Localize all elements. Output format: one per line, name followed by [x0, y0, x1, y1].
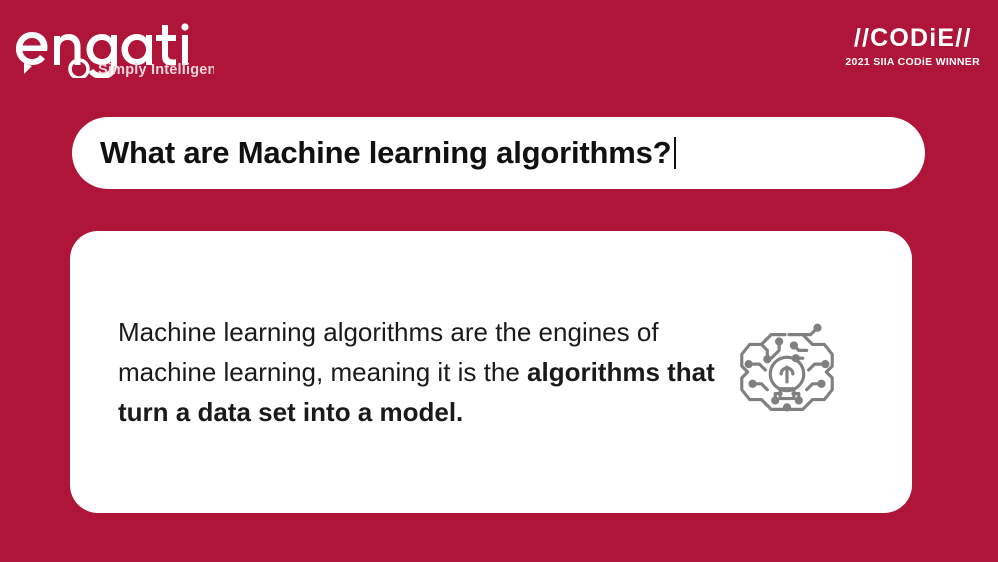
codie-badge-title: //CODiE// — [845, 26, 980, 51]
page-title-text: What are Machine learning algorithms? — [100, 135, 671, 170]
title-card: What are Machine learning algorithms? — [72, 117, 925, 189]
codie-badge-subtitle: 2021 SIIA CODiE WINNER — [845, 57, 980, 68]
ai-brain-circuit-icon — [728, 313, 846, 431]
svg-text:Simply Intelligent: Simply Intelligent — [98, 62, 214, 78]
codie-award-badge: //CODiE// 2021 SIIA CODiE WINNER — [845, 26, 980, 68]
slide-canvas: Simply Intelligent //CODiE// 2021 SIIA C… — [0, 0, 998, 562]
content-card: Machine learning algorithms are the engi… — [70, 231, 912, 513]
slide-header: Simply Intelligent //CODiE// 2021 SIIA C… — [0, 0, 998, 100]
text-cursor — [674, 137, 676, 169]
definition-paragraph: Machine learning algorithms are the engi… — [118, 312, 718, 433]
engati-logo: Simply Intelligent — [14, 22, 214, 78]
page-title: What are Machine learning algorithms? — [72, 135, 676, 171]
